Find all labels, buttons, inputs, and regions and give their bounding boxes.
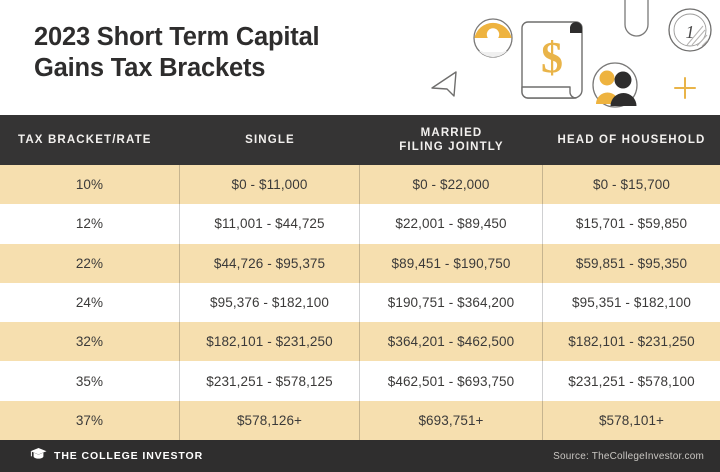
cell-rate: 24% (0, 283, 180, 322)
paper-plane-icon (432, 72, 456, 96)
column-header-tax-bracket-rate: TAX BRACKET/RATE (0, 133, 180, 148)
brand-logo[interactable]: THE COLLEGE INVESTOR (30, 447, 203, 465)
coin-label: 1 (686, 22, 695, 42)
cell-married-filing-jointly: $364,201 - $462,500 (360, 322, 543, 361)
column-header-married-line-2: FILING JOINTLY (360, 140, 543, 155)
cell-married-filing-jointly: $22,001 - $89,450 (360, 204, 543, 243)
table-row: 22%$44,726 - $95,375$89,451 - $190,750$5… (0, 244, 720, 283)
page-title-line-2: Gains Tax Brackets (34, 53, 454, 84)
cell-single: $95,376 - $182,100 (180, 283, 360, 322)
cell-single: $11,001 - $44,725 (180, 204, 360, 243)
cell-married-filing-jointly: $89,451 - $190,750 (360, 244, 543, 283)
cell-married-filing-jointly: $0 - $22,000 (360, 165, 543, 204)
table-row: 37%$578,126+$693,751+$578,101+ (0, 401, 720, 440)
footer-bar: THE COLLEGE INVESTOR Source: TheCollegeI… (0, 440, 720, 472)
cell-rate: 37% (0, 401, 180, 440)
cell-married-filing-jointly: $693,751+ (360, 401, 543, 440)
table-row: 10%$0 - $11,000$0 - $22,000$0 - $15,700 (0, 165, 720, 204)
cell-single: $0 - $11,000 (180, 165, 360, 204)
cell-rate: 22% (0, 244, 180, 283)
cell-rate: 12% (0, 204, 180, 243)
hero-illustration: $ 1 (430, 0, 720, 115)
graduation-cap-icon (30, 447, 47, 465)
plus-icon (675, 78, 695, 98)
table-row: 12%$11,001 - $44,725$22,001 - $89,450$15… (0, 204, 720, 243)
cell-head-of-household: $578,101+ (543, 401, 720, 440)
cell-rate: 35% (0, 361, 180, 400)
cell-head-of-household: $182,101 - $231,250 (543, 322, 720, 361)
coin-one-icon: 1 (669, 9, 711, 51)
dollar-scroll-icon: $ (522, 22, 582, 98)
cell-rate: 32% (0, 322, 180, 361)
svg-text:$: $ (541, 33, 563, 82)
cell-married-filing-jointly: $190,751 - $364,200 (360, 283, 543, 322)
brand-name: THE COLLEGE INVESTOR (54, 450, 203, 462)
avatar-circle-icon (474, 19, 512, 57)
source-attribution: Source: TheCollegeInvestor.com (553, 451, 704, 462)
table-header-row: TAX BRACKET/RATE SINGLE MARRIED FILING J… (0, 115, 720, 165)
table-row: 35%$231,251 - $578,125$462,501 - $693,75… (0, 361, 720, 400)
column-header-single: SINGLE (180, 133, 360, 148)
cell-head-of-household: $95,351 - $182,100 (543, 283, 720, 322)
cell-married-filing-jointly: $462,501 - $693,750 (360, 361, 543, 400)
table-row: 32%$182,101 - $231,250$364,201 - $462,50… (0, 322, 720, 361)
cell-single: $44,726 - $95,375 (180, 244, 360, 283)
cell-head-of-household: $15,701 - $59,850 (543, 204, 720, 243)
cell-rate: 10% (0, 165, 180, 204)
cell-head-of-household: $59,851 - $95,350 (543, 244, 720, 283)
column-header-married-filing-jointly: MARRIED FILING JOINTLY (360, 126, 543, 155)
tax-brackets-table: TAX BRACKET/RATE SINGLE MARRIED FILING J… (0, 115, 720, 440)
hero-banner: 2023 Short Term Capital Gains Tax Bracke… (0, 0, 720, 115)
table-body: 10%$0 - $11,000$0 - $22,000$0 - $15,7001… (0, 165, 720, 440)
two-people-circle-icon (593, 63, 637, 107)
column-header-head-of-household: HEAD OF HOUSEHOLD (543, 133, 720, 148)
cell-head-of-household: $231,251 - $578,100 (543, 361, 720, 400)
column-header-married-line-1: MARRIED (360, 126, 543, 141)
page-title: 2023 Short Term Capital Gains Tax Bracke… (34, 22, 454, 84)
table-row: 24%$95,376 - $182,100$190,751 - $364,200… (0, 283, 720, 322)
cell-single: $231,251 - $578,125 (180, 361, 360, 400)
cell-head-of-household: $0 - $15,700 (543, 165, 720, 204)
pill-shape-icon (625, 0, 648, 36)
cell-single: $182,101 - $231,250 (180, 322, 360, 361)
cell-single: $578,126+ (180, 401, 360, 440)
page-title-line-1: 2023 Short Term Capital (34, 22, 454, 53)
